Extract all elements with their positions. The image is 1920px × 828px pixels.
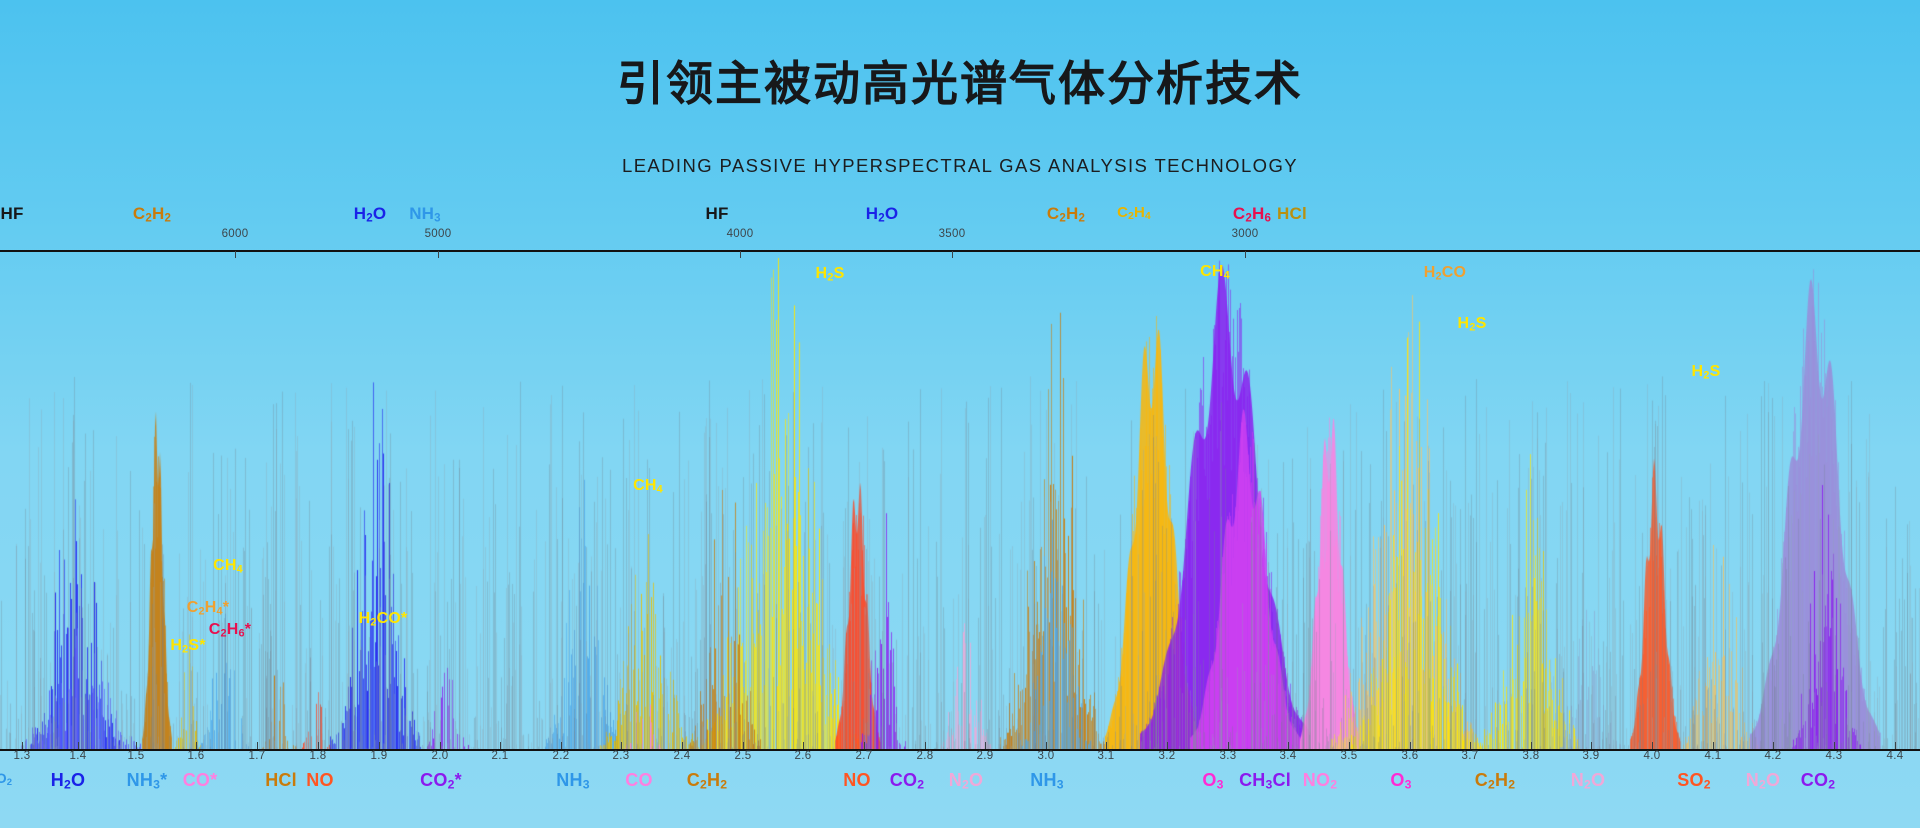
bottom-axis-tick [985, 742, 986, 749]
bottom-axis-tick-label: 3.7 [1462, 750, 1479, 762]
species-label-hcl: HCl [265, 770, 297, 791]
bottom-axis-tick-label: 2.2 [553, 750, 570, 762]
top-axis-tick [952, 251, 953, 258]
bottom-axis-tick [78, 742, 79, 749]
species-label-h2s: H2S [1692, 363, 1721, 381]
bottom-axis-tick-label: 2.0 [432, 750, 449, 762]
species-label-c2h6: C2H6* [209, 621, 251, 639]
bottom-axis-tick-label: 1.5 [128, 750, 145, 762]
species-label-nh3: NH3 [409, 204, 441, 225]
species-label-c2h6: C2H6 [1233, 204, 1271, 225]
bottom-axis-tick [440, 742, 441, 749]
top-axis-line [0, 250, 1920, 252]
bottom-axis-tick [1167, 742, 1168, 749]
species-label-nh3: NH3 [1030, 770, 1063, 792]
top-axis-tick [1245, 251, 1246, 258]
bottom-axis-line [0, 749, 1920, 751]
species-label-hf: HF [705, 204, 728, 224]
species-label-h2s: H2S [816, 265, 845, 283]
species-label-o3: O3 [1390, 770, 1411, 792]
bottom-axis-tick [925, 742, 926, 749]
top-axis-tick-label: 6000 [222, 228, 249, 240]
species-label-h2o: H2O [51, 770, 85, 792]
bottom-axis-tick [1106, 742, 1107, 749]
bottom-axis-tick-label: 2.5 [735, 750, 752, 762]
species-label-co2: CO2* [420, 770, 462, 792]
bottom-axis-tick-label: 1.9 [371, 750, 388, 762]
species-label-so2: SO2 [1677, 770, 1710, 792]
bottom-axis-tick [1591, 742, 1592, 749]
bottom-axis-tick-label: 1.3 [14, 750, 31, 762]
bottom-axis-tick-label: 3.4 [1280, 750, 1297, 762]
bottom-axis-tick [803, 742, 804, 749]
top-axis-tick-label: 4000 [727, 228, 754, 240]
species-label-ch3cl: CH3Cl [1239, 770, 1291, 792]
species-label-o3: O3 [1202, 770, 1223, 792]
bottom-axis-tick [864, 742, 865, 749]
species-label-c2h2: C2H2 [687, 770, 727, 792]
species-label-h2o: H2O [354, 204, 387, 225]
top-axis-tick-label: 3000 [1232, 228, 1259, 240]
page-subtitle: LEADING PASSIVE HYPERSPECTRAL GAS ANALYS… [0, 155, 1920, 177]
bottom-axis-tick [1228, 742, 1229, 749]
bottom-axis-tick-label: 3.3 [1220, 750, 1237, 762]
bottom-axis-tick-label: 4.2 [1765, 750, 1782, 762]
bottom-axis-tick [318, 742, 319, 749]
bottom-axis-tick [22, 742, 23, 749]
bottom-axis-tick [1895, 742, 1896, 749]
species-label-n2o: N2O [949, 770, 983, 792]
bottom-axis-tick [1046, 742, 1047, 749]
bottom-axis-tick-label: 3.0 [1038, 750, 1055, 762]
bottom-axis-tick-label: 3.8 [1523, 750, 1540, 762]
bottom-axis-tick-label: 2.6 [795, 750, 812, 762]
species-label-o2: O2 [0, 770, 12, 788]
species-label-n2o: N2O [1571, 770, 1605, 792]
bottom-axis-tick-label: 3.6 [1402, 750, 1419, 762]
bottom-axis-tick-label: 1.7 [249, 750, 266, 762]
bottom-axis-tick-label: 3.2 [1159, 750, 1176, 762]
bottom-axis-tick-label: 4.4 [1887, 750, 1904, 762]
bottom-axis-tick-label: 4.3 [1826, 750, 1843, 762]
bottom-axis-tick-label: 2.7 [856, 750, 873, 762]
infographic-root: 引领主被动高光谱气体分析技术 LEADING PASSIVE HYPERSPEC… [0, 0, 1920, 828]
bottom-axis-tick [1349, 742, 1350, 749]
species-label-co: CO* [183, 770, 218, 791]
bottom-axis-tick [621, 742, 622, 749]
species-label-h2co: H2CO [1424, 264, 1466, 282]
bottom-axis-tick [1410, 742, 1411, 749]
bottom-axis-tick-label: 3.1 [1098, 750, 1115, 762]
spectrum-plot [0, 252, 1920, 749]
bottom-axis-tick-label: 3.9 [1583, 750, 1600, 762]
top-axis-tick [740, 251, 741, 258]
bottom-axis-tick-label: 2.8 [917, 750, 934, 762]
bottom-axis-tick-label: 2.4 [674, 750, 691, 762]
bottom-axis-tick [1531, 742, 1532, 749]
species-label-nh3: NH3* [127, 770, 168, 792]
species-label-h2co: H2CO* [359, 610, 408, 628]
page-title: 引领主被动高光谱气体分析技术 [0, 58, 1920, 111]
bottom-axis-tick [1834, 742, 1835, 749]
top-axis-tick [235, 251, 236, 258]
bottom-axis-tick-label: 4.1 [1705, 750, 1722, 762]
species-label-c2h2: C2H2 [1475, 770, 1515, 792]
bottom-axis-tick [379, 742, 380, 749]
species-label-co2: CO2 [1801, 770, 1835, 792]
bottom-axis-tick [1713, 742, 1714, 749]
species-label-no: NO [843, 770, 870, 791]
bottom-axis-tick [1288, 742, 1289, 749]
bottom-axis-tick [1470, 742, 1471, 749]
bottom-axis-tick [196, 742, 197, 749]
bottom-axis-tick [1773, 742, 1774, 749]
bottom-axis-tick-label: 2.1 [492, 750, 509, 762]
species-label-c2h2: C2H2 [1047, 204, 1085, 225]
bottom-axis-tick-label: 1.6 [188, 750, 205, 762]
top-axis-tick-label: 3500 [939, 228, 966, 240]
bottom-axis-tick [257, 742, 258, 749]
species-label-ch4: CH4 [633, 477, 663, 495]
bottom-axis-tick [1652, 742, 1653, 749]
bottom-axis-tick [561, 742, 562, 749]
species-label-hf: HF [0, 204, 23, 224]
species-label-h2o: H2O [866, 204, 899, 225]
bottom-axis-tick-label: 2.3 [613, 750, 630, 762]
species-label-c2h4: C2H4* [187, 599, 229, 617]
spectrum-canvas [0, 252, 1920, 749]
species-label-nh3: NH3 [556, 770, 589, 792]
top-axis-tick [438, 251, 439, 258]
species-label-n2o: N2O [1746, 770, 1780, 792]
species-label-hcl: HCl [1277, 204, 1307, 224]
species-label-ch4: CH4 [1200, 263, 1230, 281]
top-axis-tick-label: 5000 [425, 228, 452, 240]
bottom-axis-tick-label: 4.0 [1644, 750, 1661, 762]
bottom-axis-tick-label: 2.9 [977, 750, 994, 762]
bottom-axis-tick [136, 742, 137, 749]
bottom-axis-tick-label: 1.8 [310, 750, 327, 762]
species-label-c2h4: C2H4 [1117, 204, 1151, 222]
species-label-co2: CO2 [890, 770, 924, 792]
bottom-axis-tick [500, 742, 501, 749]
species-label-co: CO [625, 770, 652, 791]
species-label-no: NO [306, 770, 333, 791]
species-label-ch4: CH4 [213, 557, 243, 575]
species-label-h2s: H2S [1458, 315, 1487, 333]
species-label-h2s: H2S* [170, 637, 205, 655]
bottom-axis-tick [682, 742, 683, 749]
species-label-no2: NO2 [1303, 770, 1337, 792]
bottom-axis-tick-label: 3.5 [1341, 750, 1358, 762]
bottom-axis-tick-label: 1.4 [70, 750, 87, 762]
species-label-c2h2: C2H2 [133, 204, 171, 225]
bottom-axis-tick [743, 742, 744, 749]
